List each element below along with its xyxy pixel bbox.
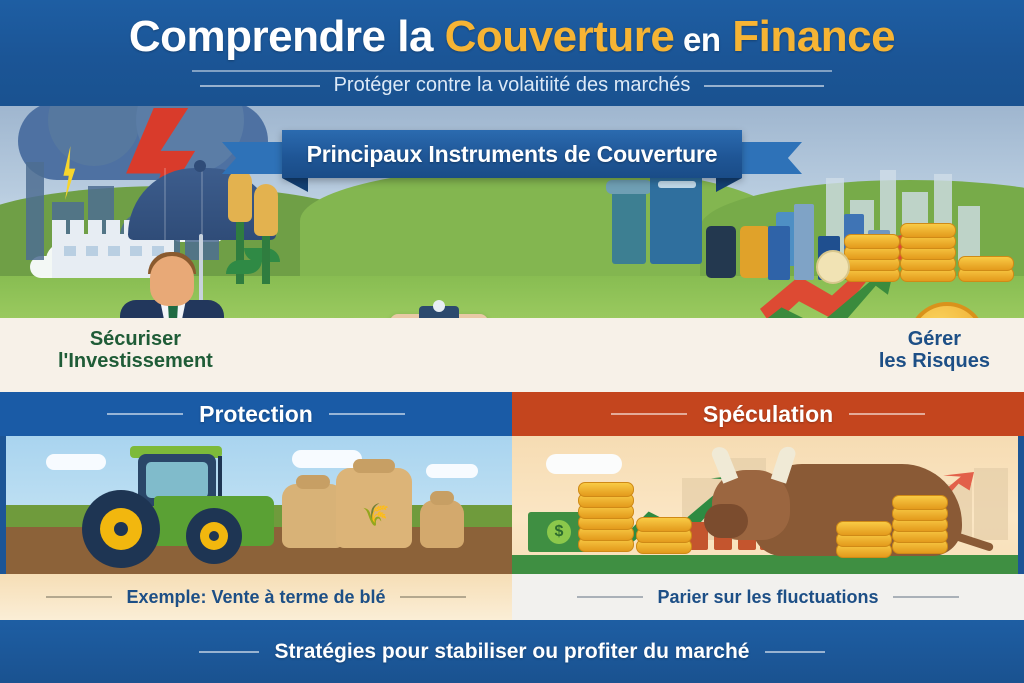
tractor-window	[146, 462, 208, 498]
title-underline	[192, 70, 832, 72]
instruments-banner-label: Principaux Instruments de Couverture	[307, 141, 718, 168]
page-footer: Stratégies pour stabiliser ou profiter d…	[0, 620, 1024, 683]
commodity-barrel-icon	[740, 226, 770, 278]
protection-panel-illustration: 🌾	[6, 436, 512, 574]
flat-coin-icon	[816, 250, 850, 284]
tractor-front-wheel	[186, 508, 242, 564]
footer-rule-right	[765, 651, 825, 653]
tractor-rear-wheel	[82, 490, 160, 568]
footer-text: Stratégies pour stabiliser ou profiter d…	[275, 640, 750, 664]
speculation-label: Spéculation	[703, 401, 833, 428]
chart-bar	[768, 226, 790, 280]
title-part-en: en	[683, 21, 721, 58]
panel-cloud-icon	[46, 454, 106, 470]
secure-investment-label: Sécuriser l'Investissement	[58, 328, 213, 373]
secure-investment-label-group: Sécuriser l'Investissement	[58, 328, 213, 373]
manage-risk-label-group: Gérer les Risques	[879, 328, 990, 373]
infographic-root: Comprendre la Couverture en Finance Prot…	[0, 0, 1024, 683]
protection-rule-left	[107, 413, 183, 415]
wheat-head-icon	[228, 170, 252, 222]
bull-snout	[704, 504, 748, 538]
umbrella-knob	[194, 160, 206, 172]
secure-investment-line-2: l'Investissement	[58, 350, 213, 372]
factory-chimney-icon	[26, 162, 44, 260]
tractor-exhaust	[218, 456, 222, 496]
manage-risk-line-2: les Risques	[879, 350, 990, 372]
subtitle-row: Protéger contre la volaitiité des marché…	[0, 74, 1024, 97]
title-accent-finance: Finance	[732, 12, 895, 61]
chart-bar-2	[794, 204, 814, 280]
city-silhouette-4	[974, 468, 1008, 540]
grain-sack-icon	[282, 484, 344, 548]
tank-cap-icon	[606, 180, 652, 194]
manage-risk-line-1: Gérer	[879, 328, 990, 350]
industrial-window-icon	[658, 181, 696, 188]
city-silhouette-bar-6	[958, 206, 980, 262]
panel-cloud-icon	[546, 454, 622, 474]
page-title: Comprendre la Couverture en Finance	[0, 0, 1024, 60]
page-subtitle: Protéger contre la volaitiité des marché…	[334, 74, 691, 97]
section-header-protection: Protection	[0, 392, 512, 436]
speculation-caption: Parier sur les fluctuations	[657, 587, 878, 608]
manage-risk-label: Gérer les Risques	[879, 328, 990, 373]
section-header-speculation: Spéculation	[512, 392, 1024, 436]
subtitle-rule-right	[704, 85, 824, 87]
storage-tank-icon	[612, 188, 646, 264]
instruments-banner: Principaux Instruments de Couverture	[282, 130, 742, 178]
speculation-grass	[512, 555, 1018, 574]
title-accent-couverture: Couverture	[445, 12, 675, 61]
speculation-panel-illustration: $	[512, 436, 1018, 574]
protection-caption-rule-left	[46, 596, 112, 598]
panel-cloud-icon-3	[426, 464, 478, 478]
speculation-caption-bar: Parier sur les fluctuations	[512, 574, 1024, 620]
protection-caption: Exemple: Vente à terme de blé	[126, 587, 385, 608]
businessman-head	[150, 256, 194, 306]
businessman-tie	[168, 304, 178, 318]
grain-sack-icon-3	[420, 500, 464, 548]
wheat-head-icon-2	[254, 184, 278, 236]
speculation-caption-rule-right	[893, 596, 959, 598]
secure-investment-line-1: Sécuriser	[58, 328, 213, 350]
speculation-rule-right	[849, 413, 925, 415]
title-part-1: Comprendre la	[129, 12, 445, 61]
protection-label: Protection	[199, 401, 313, 428]
sack-wheat-emblem: 🌾	[362, 502, 389, 528]
banknote-dollar-label: $	[547, 520, 571, 544]
instrument-label-bar: Sécuriser l'Investissement Contrats à Te…	[0, 318, 1024, 392]
protection-caption-rule-right	[400, 596, 466, 598]
clipboard-clip	[419, 306, 459, 318]
speculation-rule-left	[611, 413, 687, 415]
protection-caption-bar: Exemple: Vente à terme de blé	[0, 574, 512, 620]
protection-rule-right	[329, 413, 405, 415]
footer-rule-left	[199, 651, 259, 653]
page-header: Comprendre la Couverture en Finance Prot…	[0, 0, 1024, 106]
oil-barrel-icon	[706, 226, 736, 278]
speculation-caption-rule-left	[577, 596, 643, 598]
panel-cloud-icon-2	[292, 450, 362, 468]
subtitle-rule-left	[200, 85, 320, 87]
